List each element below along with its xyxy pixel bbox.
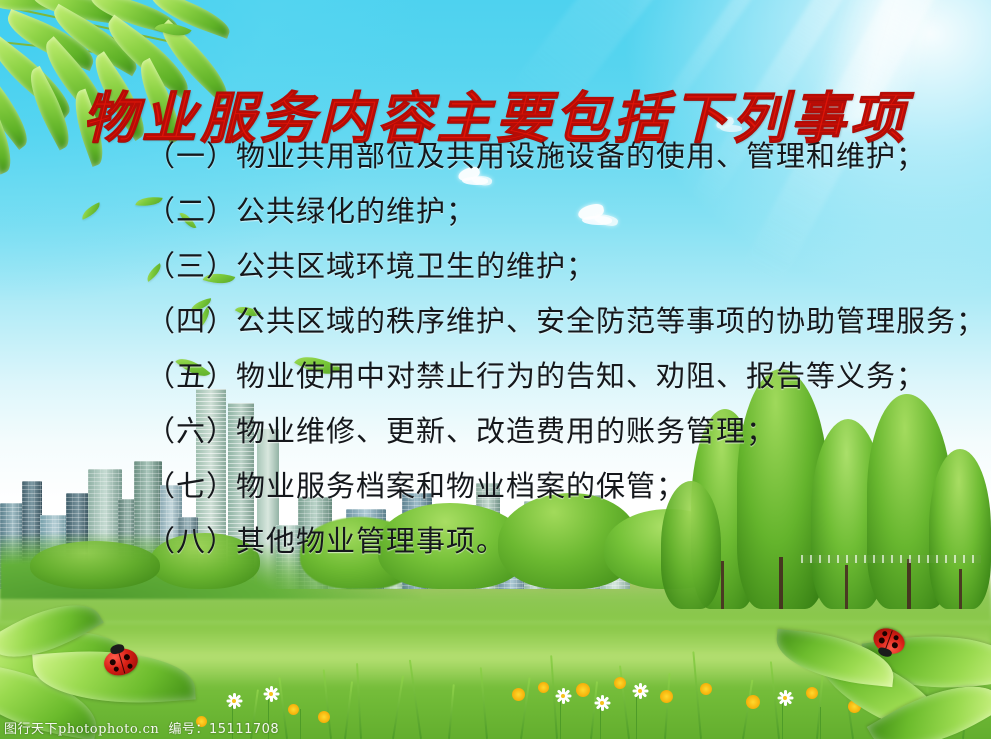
clause-text: （七）物业服务档案和物业档案的保管；	[146, 469, 686, 503]
dandelion-icon	[614, 677, 626, 689]
daisy-icon	[776, 689, 794, 707]
list-item: （八）其他物业管理事项。	[146, 518, 506, 560]
list-item: （一）物业共用部位及共用设施设备的使用、管理和维护；	[146, 133, 926, 175]
daisy-icon	[630, 681, 650, 701]
list-item: （三）公共区域环境卫生的维护；	[146, 243, 596, 285]
dandelion-icon	[576, 683, 590, 697]
daisy-icon	[226, 693, 242, 709]
watermark-id-value: 15111708	[209, 722, 279, 737]
list-item: （四）公共区域的秩序维护、安全防范等事项的协助管理服务；	[146, 298, 986, 340]
daisy-icon	[594, 695, 610, 711]
clause-text: （四）公共区域的秩序维护、安全防范等事项的协助管理服务；	[146, 304, 986, 338]
poster-canvas: 物业服务内容主要包括下列事项 （一）物业共用部位及共用设施设备的使用、管理和维护…	[0, 0, 991, 739]
watermark-id-label: 编号：	[168, 722, 209, 737]
list-item: （六）物业维修、更新、改造费用的账务管理；	[146, 408, 776, 450]
dandelion-icon	[288, 704, 299, 715]
list-item: （五）物业使用中对禁止行为的告知、劝阻、报告等义务；	[146, 353, 926, 395]
dandelion-icon	[660, 690, 673, 703]
clause-text: （二）公共绿化的维护；	[146, 194, 476, 228]
daisy-icon	[554, 687, 572, 705]
list-item: （二）公共绿化的维护；	[146, 188, 476, 230]
daisy-icon	[262, 685, 280, 703]
watermark-url: photophoto.cn	[58, 722, 159, 737]
clause-text: （八）其他物业管理事项。	[146, 524, 506, 558]
list-item: （七）物业服务档案和物业档案的保管；	[146, 463, 686, 505]
clause-text: （五）物业使用中对禁止行为的告知、劝阻、报告等义务；	[146, 359, 926, 393]
clause-text: （三）公共区域环境卫生的维护；	[146, 249, 596, 283]
dandelion-icon	[538, 682, 549, 693]
dandelion-icon	[318, 711, 330, 723]
watermark-site-cn: 图行天下	[4, 722, 58, 737]
watermark: 图行天下photophoto.cn 编号：15111708	[4, 718, 279, 737]
clause-text: （一）物业共用部位及共用设施设备的使用、管理和维护；	[146, 139, 926, 173]
dandelion-icon	[746, 695, 760, 709]
dandelion-icon	[700, 683, 712, 695]
clause-text: （六）物业维修、更新、改造费用的账务管理；	[146, 414, 776, 448]
dandelion-icon	[512, 688, 525, 701]
clause-list: （一）物业共用部位及共用设施设备的使用、管理和维护； （二）公共绿化的维护； （…	[0, 0, 991, 739]
